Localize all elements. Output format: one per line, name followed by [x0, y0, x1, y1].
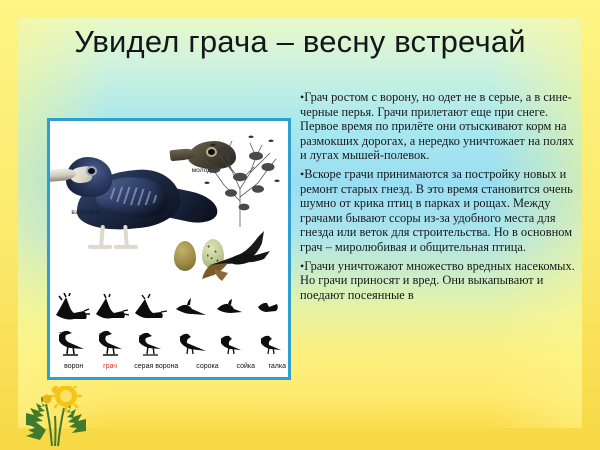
slide: Увидел грача – весну встречай: [0, 0, 600, 450]
silhouette-perched-raven: [54, 325, 90, 357]
silhouette-flying-rook: [93, 293, 129, 325]
silhouette-flying-magpie: [172, 293, 208, 325]
body-paragraph-2-text: Вскоре грачи принимаются за постройку но…: [300, 167, 573, 254]
page-title: Увидел грача – весну встречай: [18, 24, 582, 60]
silhouette-perched-rook: [93, 325, 129, 357]
silhouette-perched-magpie: [172, 325, 208, 357]
species-label-jay: сойка: [229, 363, 262, 370]
species-label-raven: ворон: [54, 363, 93, 370]
body-text-column: •Грач ростом с ворону, но одет не в серы…: [300, 90, 578, 306]
body-paragraph-3-text: Грачи уничтожают множество вредных насек…: [300, 259, 575, 302]
nesting-tree-line-art: [198, 131, 282, 227]
silhouette-row-flying: [54, 293, 286, 325]
silhouette-perched-hooded-crow: [132, 325, 168, 357]
species-label-rook: грач: [93, 363, 126, 370]
silhouette-flying-raven: [54, 293, 90, 325]
rook-leg: [99, 225, 105, 247]
flying-rook: [202, 229, 280, 283]
rook-eye: [88, 168, 95, 174]
silhouette-flying-jay: [211, 293, 247, 325]
dandelion-flower: [43, 386, 82, 411]
silhouette-perched-jay: [211, 325, 247, 357]
rook-foot: [88, 245, 112, 249]
species-label-strip: ворон грач серая ворона сорока сойка гал…: [50, 359, 291, 373]
illustration-canvas: молодой взрослый: [50, 121, 288, 377]
body-paragraph-3: •Грачи уничтожают множество вредных насе…: [300, 259, 578, 303]
illustration-panel: молодой взрослый: [47, 118, 291, 380]
silhouette-perched-jackdaw: [250, 325, 286, 357]
species-label-magpie: сорока: [186, 363, 229, 370]
silhouette-flying-jackdaw: [250, 293, 286, 325]
silhouette-row-perched: [54, 325, 286, 357]
body-paragraph-1: •Грач ростом с ворону, но одет не в серы…: [300, 90, 578, 163]
species-label-hooded-crow: серая ворона: [127, 363, 186, 370]
dandelion-decoration: [6, 386, 102, 448]
body-paragraph-1-text: Грач ростом с ворону, но одет не в серые…: [300, 90, 574, 162]
silhouette-flying-hooded-crow: [132, 293, 168, 325]
label-adult: взрослый: [58, 209, 114, 216]
egg-olive: [174, 241, 196, 271]
body-paragraph-2: •Вскоре грачи принимаются за постройку н…: [300, 167, 578, 255]
silhouette-comparison-grid: [54, 293, 286, 359]
species-label-jackdaw: галка: [263, 363, 292, 370]
rook-foot: [114, 245, 138, 249]
